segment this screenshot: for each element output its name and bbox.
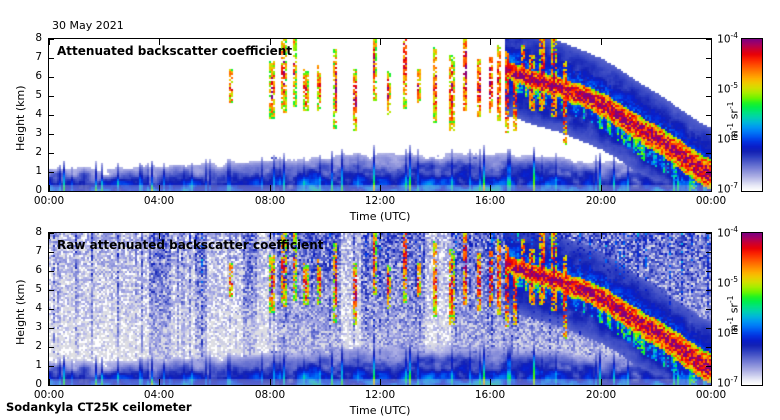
y-tick-label: 5 <box>14 283 42 295</box>
x-tick-label: 20:00 <box>575 389 627 401</box>
y-axis-label: Height (km) <box>14 85 27 151</box>
panel-0-title: Attenuated backscatter coefficient <box>57 44 292 58</box>
colorbar-bottom[interactable] <box>741 232 763 386</box>
x-tick-label: 16:00 <box>464 195 516 207</box>
y-tick-label: 5 <box>14 89 42 101</box>
x-tick-label: 00:00 <box>23 195 75 207</box>
colorbar-top[interactable] <box>741 38 763 192</box>
x-axis-label: Time (UTC) <box>345 404 415 417</box>
y-tick-label: 3 <box>14 321 42 333</box>
colorbar-unit-label: m-1 sr-1 <box>726 296 741 335</box>
colorbar-top-gradient <box>742 39 762 191</box>
x-tick-label: 20:00 <box>575 195 627 207</box>
y-tick-label: 1 <box>14 165 42 177</box>
y-tick-label: 8 <box>14 32 42 44</box>
y-tick-label: 1 <box>14 359 42 371</box>
x-tick-label: 00:00 <box>685 389 737 401</box>
y-tick-label: 7 <box>14 245 42 257</box>
raw-attenuated-backscatter-heatmap <box>49 233 711 385</box>
x-tick-label: 12:00 <box>354 195 406 207</box>
y-tick-label: 4 <box>14 302 42 314</box>
x-tick-label: 04:00 <box>133 195 185 207</box>
y-tick-label: 0 <box>14 184 42 196</box>
x-axis-label: Time (UTC) <box>345 210 415 223</box>
colorbar-bottom-gradient <box>742 233 762 385</box>
panel-attenuated-backscatter[interactable] <box>48 38 712 192</box>
figure-caption: Sodankyla CT25K ceilometer <box>6 400 192 414</box>
ceilometer-figure: 30 May 2021 Attenuated backscatter coeff… <box>0 0 780 420</box>
attenuated-backscatter-heatmap <box>49 39 711 191</box>
panel-raw-attenuated-backscatter[interactable] <box>48 232 712 386</box>
y-tick-label: 4 <box>14 108 42 120</box>
y-axis-label: Height (km) <box>14 279 27 345</box>
panel-1-title: Raw attenuated backscatter coefficient <box>57 238 324 252</box>
x-tick-label: 08:00 <box>244 389 296 401</box>
y-tick-label: 0 <box>14 378 42 390</box>
y-tick-label: 2 <box>14 340 42 352</box>
y-tick-label: 7 <box>14 51 42 63</box>
y-tick-label: 6 <box>14 264 42 276</box>
x-tick-label: 00:00 <box>685 195 737 207</box>
x-tick-label: 16:00 <box>464 389 516 401</box>
y-tick-label: 3 <box>14 127 42 139</box>
date-label: 30 May 2021 <box>52 19 124 32</box>
y-tick-label: 8 <box>14 226 42 238</box>
x-tick-label: 12:00 <box>354 389 406 401</box>
x-tick-label: 08:00 <box>244 195 296 207</box>
y-tick-label: 6 <box>14 70 42 82</box>
y-tick-label: 2 <box>14 146 42 158</box>
colorbar-unit-label: m-1 sr-1 <box>726 102 741 141</box>
